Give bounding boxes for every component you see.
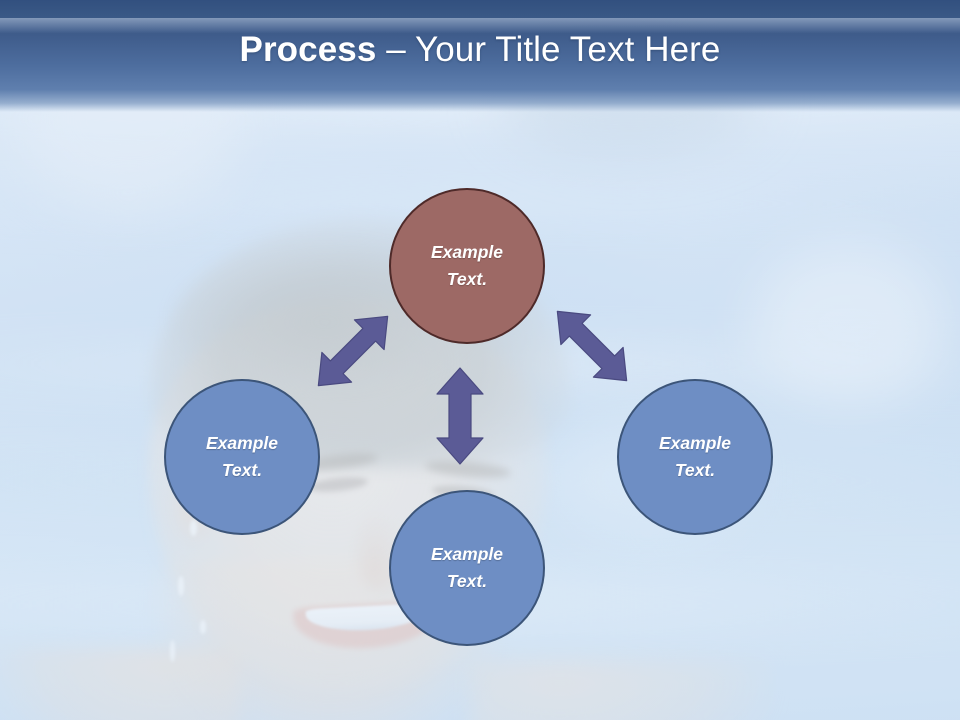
page-title-rest: – Your Title Text Here (376, 30, 720, 69)
node-label-line1: Example (431, 541, 503, 568)
page-title: Process – Your Title Text Here (240, 30, 721, 70)
connector-arrow-top-left[interactable] (300, 303, 406, 399)
slide-canvas: Process – Your Title Text Here Example T… (0, 0, 960, 720)
process-node-right[interactable]: Example Text. (617, 379, 773, 535)
node-label-line1: Example (431, 239, 503, 266)
connector-arrow-top-bottom[interactable] (433, 366, 487, 466)
process-node-bottom[interactable]: Example Text. (389, 490, 545, 646)
node-label-line2: Text. (675, 457, 715, 484)
node-label-line2: Text. (447, 266, 487, 293)
title-bar: Process – Your Title Text Here (0, 0, 960, 112)
node-label-line2: Text. (447, 568, 487, 595)
node-label-line1: Example (659, 430, 731, 457)
page-title-emphasis: Process (240, 30, 377, 69)
title-bar-inner: Process – Your Title Text Here (0, 0, 960, 100)
node-label-line1: Example (206, 430, 278, 457)
node-label-line2: Text. (222, 457, 262, 484)
process-node-top[interactable]: Example Text. (389, 188, 545, 344)
process-node-left[interactable]: Example Text. (164, 379, 320, 535)
connector-arrow-top-right[interactable] (540, 298, 644, 394)
